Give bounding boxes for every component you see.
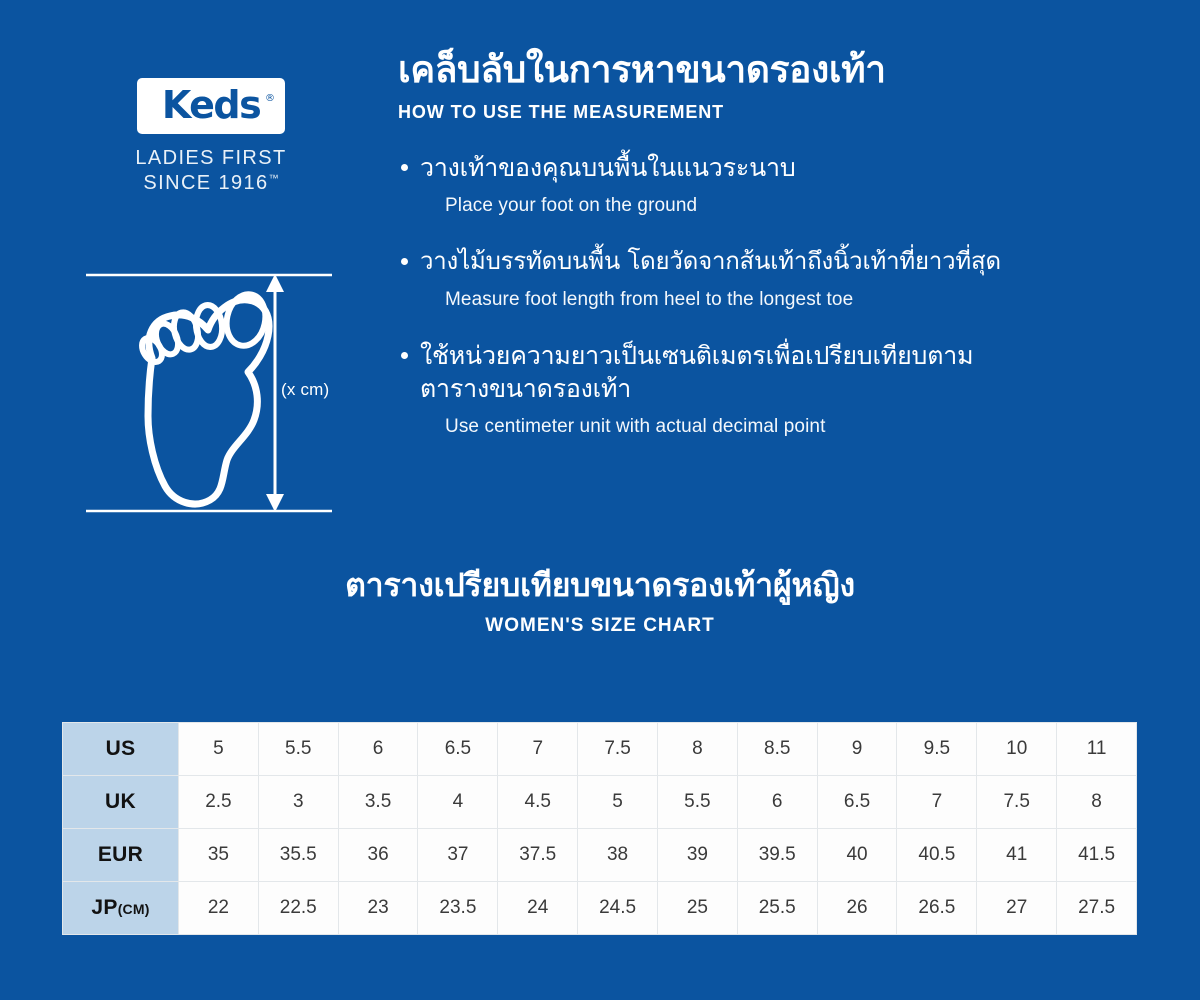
size-chart-cell: 40: [817, 829, 897, 882]
measurement-unit-label: (x cm): [281, 380, 329, 400]
size-chart-row: EUR3535.5363737.5383939.54040.54141.5: [63, 829, 1137, 882]
size-system-label: JP: [91, 896, 117, 919]
brand-tagline-line1: LADIES FIRST: [118, 147, 304, 170]
size-chart-cell: 25.5: [737, 882, 817, 935]
keds-logo-plate: Keds ®: [137, 78, 285, 134]
size-chart-cell: 7.5: [977, 776, 1057, 829]
size-chart-cell: 3.5: [338, 776, 418, 829]
size-chart-row: UK2.533.544.555.566.577.58: [63, 776, 1137, 829]
size-chart-cell: 35.5: [258, 829, 338, 882]
instructions-block: เคล็บลับในการหาขนาดรองเท้า HOW TO USE TH…: [398, 48, 1058, 466]
size-chart-cell: 2.5: [179, 776, 259, 829]
size-chart-cell: 7.5: [578, 723, 658, 776]
size-chart-row-label: EUR: [63, 829, 179, 882]
instruction-step-english: Use centimeter unit with actual decimal …: [445, 414, 1058, 440]
size-chart-cell: 8: [657, 723, 737, 776]
instruction-steps-list: วางเท้าของคุณบนพื้นในแนวระนาบ Place your…: [398, 151, 1058, 440]
size-chart-cell: 26.5: [897, 882, 977, 935]
brand-tagline-line2: SINCE 1916™: [118, 172, 304, 195]
size-chart-cell: 35: [179, 829, 259, 882]
size-chart-cell: 40.5: [897, 829, 977, 882]
size-chart-cell: 23: [338, 882, 418, 935]
size-chart-cell: 11: [1057, 723, 1137, 776]
size-chart-cell: 7: [897, 776, 977, 829]
size-chart-cell: 8: [1057, 776, 1137, 829]
page-title-thai: เคล็บลับในการหาขนาดรองเท้า: [398, 48, 1058, 92]
size-chart-cell: 37: [418, 829, 498, 882]
bullet-icon: [401, 352, 408, 359]
how-to-measure-section: Keds ® LADIES FIRST SINCE 1916™: [0, 0, 1200, 545]
size-chart-cell: 6: [338, 723, 418, 776]
size-chart-cell: 39: [657, 829, 737, 882]
size-chart-cell: 22.5: [258, 882, 338, 935]
size-chart-cell: 8.5: [737, 723, 817, 776]
size-chart-row: US55.566.577.588.599.51011: [63, 723, 1137, 776]
instruction-step-english: Measure foot length from heel to the lon…: [445, 287, 1058, 313]
size-chart-cell: 6.5: [817, 776, 897, 829]
size-chart-row: JP(CM)2222.52323.52424.52525.52626.52727…: [63, 882, 1137, 935]
bullet-icon: [401, 258, 408, 265]
instruction-step-english: Place your foot on the ground: [445, 193, 1058, 219]
size-chart-cell: 3: [258, 776, 338, 829]
brand-tagline-line2-text: SINCE 1916: [143, 172, 268, 194]
instruction-step: วางเท้าของคุณบนพื้นในแนวระนาบ Place your…: [398, 151, 1058, 219]
bullet-icon: [401, 164, 408, 171]
instruction-step-thai: ใช้หน่วยความยาวเป็นเซนติเมตรเพื่อเปรียบเ…: [420, 339, 1020, 405]
size-chart-title-english: WOMEN'S SIZE CHART: [0, 615, 1200, 637]
size-chart-cell: 4.5: [498, 776, 578, 829]
size-chart-section: ตารางเปรียบเทียบขนาดรองเท้าผู้หญิง WOMEN…: [0, 565, 1200, 637]
size-guide-page: Keds ® LADIES FIRST SINCE 1916™: [0, 0, 1200, 1000]
size-chart-cell: 27: [977, 882, 1057, 935]
size-system-label: EUR: [98, 843, 143, 866]
size-chart-cell: 5: [578, 776, 658, 829]
size-chart-cell: 26: [817, 882, 897, 935]
size-chart-table: US55.566.577.588.599.51011UK2.533.544.55…: [62, 722, 1137, 935]
size-chart-cell: 41: [977, 829, 1057, 882]
size-chart-cell: 5.5: [258, 723, 338, 776]
size-chart-cell: 5.5: [657, 776, 737, 829]
registered-trademark-icon: ®: [265, 94, 275, 104]
size-chart-cell: 27.5: [1057, 882, 1137, 935]
size-chart-table-wrapper: US55.566.577.588.599.51011UK2.533.544.55…: [62, 722, 1137, 935]
brand-logo: Keds ® LADIES FIRST SINCE 1916™: [118, 78, 304, 195]
size-chart-title-thai: ตารางเปรียบเทียบขนาดรองเท้าผู้หญิง: [0, 565, 1200, 605]
size-chart-cell: 23.5: [418, 882, 498, 935]
size-chart-cell: 9.5: [897, 723, 977, 776]
size-chart-cell: 24: [498, 882, 578, 935]
size-chart-cell: 9: [817, 723, 897, 776]
size-chart-cell: 10: [977, 723, 1057, 776]
size-chart-cell: 4: [418, 776, 498, 829]
size-chart-cell: 36: [338, 829, 418, 882]
size-chart-cell: 37.5: [498, 829, 578, 882]
size-chart-cell: 38: [578, 829, 658, 882]
size-chart-cell: 25: [657, 882, 737, 935]
size-chart-cell: 5: [179, 723, 259, 776]
size-chart-cell: 24.5: [578, 882, 658, 935]
size-chart-row-label: US: [63, 723, 179, 776]
size-system-unit: (CM): [118, 901, 150, 917]
size-chart-cell: 22: [179, 882, 259, 935]
trademark-icon: ™: [269, 173, 279, 184]
page-title-english: HOW TO USE THE MEASUREMENT: [398, 102, 1058, 123]
size-chart-cell: 7: [498, 723, 578, 776]
size-system-label: UK: [105, 790, 136, 813]
instruction-step-thai: วางเท้าของคุณบนพื้นในแนวระนาบ: [420, 151, 1058, 184]
size-chart-cell: 41.5: [1057, 829, 1137, 882]
size-chart-cell: 39.5: [737, 829, 817, 882]
size-chart-cell: 6.5: [418, 723, 498, 776]
instruction-step: วางไม้บรรทัดบนพื้น โดยวัดจากส้นเท้าถึงนิ…: [398, 245, 1058, 313]
size-chart-row-label: JP(CM): [63, 882, 179, 935]
brand-wordmark: Keds: [162, 86, 260, 124]
size-chart-row-label: UK: [63, 776, 179, 829]
instruction-step-thai: วางไม้บรรทัดบนพื้น โดยวัดจากส้นเท้าถึงนิ…: [420, 245, 1058, 278]
instruction-step: ใช้หน่วยความยาวเป็นเซนติเมตรเพื่อเปรียบเ…: [398, 339, 1058, 440]
foot-measure-diagram: (x cm): [82, 268, 352, 518]
size-system-label: US: [106, 737, 136, 760]
size-chart-cell: 6: [737, 776, 817, 829]
